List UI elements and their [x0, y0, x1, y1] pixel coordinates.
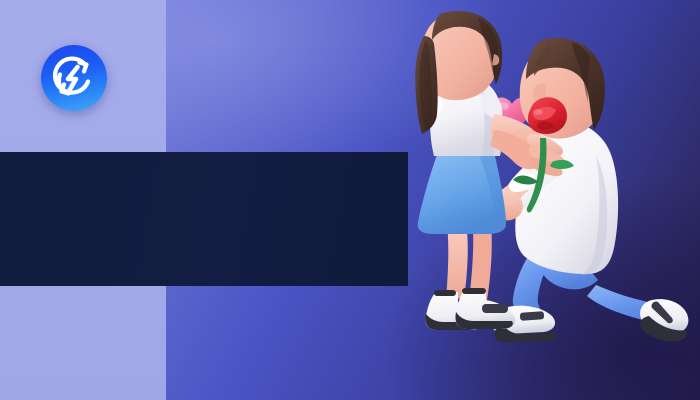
couple-illustration: [400, 0, 700, 400]
couple-proposal-with-rose-illustration: [400, 0, 700, 400]
title-banner: [0, 152, 408, 286]
banner-graphic: [0, 0, 700, 400]
brand-logo: [41, 45, 107, 111]
man-shoe-rear: [640, 299, 688, 341]
circular-swirl-arrow-logo-icon: [41, 45, 107, 111]
woman-shoe-right: [456, 288, 516, 329]
faint-dot-grid: [0, 286, 166, 400]
man-figure: [487, 38, 688, 343]
